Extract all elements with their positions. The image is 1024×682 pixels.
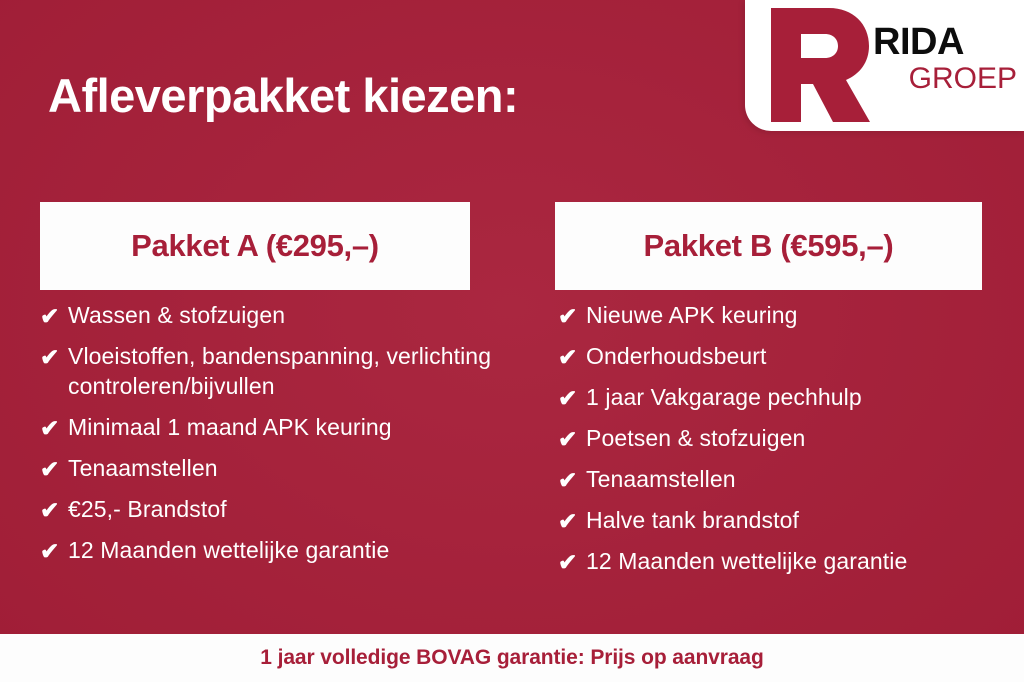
list-item: ✔ 12 Maanden wettelijke garantie — [40, 535, 510, 565]
check-icon: ✔ — [558, 465, 586, 495]
poster-canvas: Afleverpakket kiezen: RIDA GROEP Pakket … — [0, 0, 1024, 682]
check-icon: ✔ — [558, 383, 586, 413]
list-item: ✔ Tenaamstellen — [40, 453, 510, 483]
brand-logo-panel: RIDA GROEP — [745, 0, 1024, 131]
feature-label: Vloeistoffen, bandenspanning, verlichtin… — [68, 341, 510, 401]
package-a-header-card: Pakket A (€295,–) — [40, 202, 470, 290]
check-icon: ✔ — [558, 506, 586, 536]
package-b-header-card: Pakket B (€595,–) — [555, 202, 982, 290]
check-icon: ✔ — [40, 342, 68, 372]
list-item: ✔ Vloeistoffen, bandenspanning, verlicht… — [40, 341, 510, 401]
list-item: ✔ 12 Maanden wettelijke garantie — [558, 546, 998, 576]
feature-label: Wassen & stofzuigen — [68, 300, 510, 330]
list-item: ✔ Wassen & stofzuigen — [40, 300, 510, 330]
check-icon: ✔ — [558, 547, 586, 577]
check-icon: ✔ — [40, 413, 68, 443]
logo-wordmark: RIDA GROEP — [873, 22, 1019, 96]
list-item: ✔ 1 jaar Vakgarage pechhulp — [558, 382, 998, 412]
logo-primary-text: RIDA — [873, 22, 1019, 62]
package-a-title: Pakket A (€295,–) — [131, 228, 379, 264]
feature-label: Minimaal 1 maand APK keuring — [68, 412, 510, 442]
list-item: ✔ Minimaal 1 maand APK keuring — [40, 412, 510, 442]
check-icon: ✔ — [40, 301, 68, 331]
check-icon: ✔ — [558, 342, 586, 372]
feature-label: 12 Maanden wettelijke garantie — [68, 535, 510, 565]
package-b-title: Pakket B (€595,–) — [644, 228, 894, 264]
feature-label: Tenaamstellen — [586, 464, 998, 494]
package-b-feature-list: ✔ Nieuwe APK keuring ✔ Onderhoudsbeurt ✔… — [558, 300, 998, 587]
feature-label: Poetsen & stofzuigen — [586, 423, 998, 453]
rida-r-monogram-icon — [767, 4, 871, 126]
feature-label: Onderhoudsbeurt — [586, 341, 998, 371]
check-icon: ✔ — [40, 454, 68, 484]
package-a-feature-list: ✔ Wassen & stofzuigen ✔ Vloeistoffen, ba… — [40, 300, 510, 576]
list-item: ✔ Tenaamstellen — [558, 464, 998, 494]
check-icon: ✔ — [558, 301, 586, 331]
list-item: ✔ Poetsen & stofzuigen — [558, 423, 998, 453]
bovag-guarantee-banner: 1 jaar volledige BOVAG garantie: Prijs o… — [0, 634, 1024, 682]
list-item: ✔ €25,- Brandstof — [40, 494, 510, 524]
feature-label: €25,- Brandstof — [68, 494, 510, 524]
list-item: ✔ Onderhoudsbeurt — [558, 341, 998, 371]
feature-label: 12 Maanden wettelijke garantie — [586, 546, 998, 576]
check-icon: ✔ — [40, 495, 68, 525]
list-item: ✔ Nieuwe APK keuring — [558, 300, 998, 330]
page-title: Afleverpakket kiezen: — [48, 67, 518, 125]
logo-inner: RIDA GROEP — [745, 0, 1024, 131]
check-icon: ✔ — [558, 424, 586, 454]
feature-label: Halve tank brandstof — [586, 505, 998, 535]
feature-label: Tenaamstellen — [68, 453, 510, 483]
logo-secondary-text: GROEP — [873, 62, 1019, 96]
feature-label: 1 jaar Vakgarage pechhulp — [586, 382, 998, 412]
feature-label: Nieuwe APK keuring — [586, 300, 998, 330]
bovag-guarantee-text: 1 jaar volledige BOVAG garantie: Prijs o… — [260, 646, 763, 670]
list-item: ✔ Halve tank brandstof — [558, 505, 998, 535]
check-icon: ✔ — [40, 536, 68, 566]
